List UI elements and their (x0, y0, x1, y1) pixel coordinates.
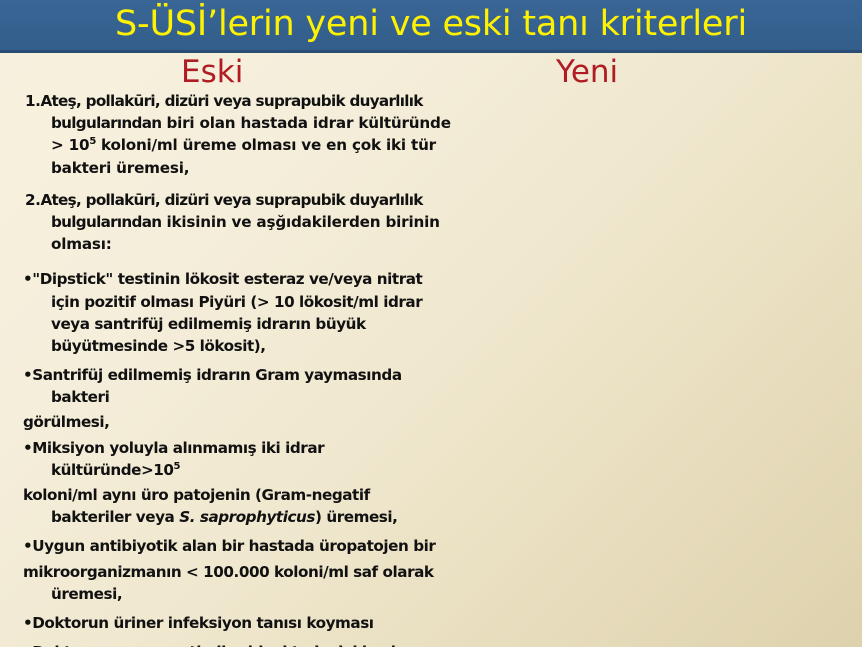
column-body-eski: 1.Ateş, pollakūri, dizüri veya suprapubi… (0, 90, 452, 647)
list-item-text: Uygun antibiyotik alan bir hastada üropa… (32, 537, 435, 555)
slide-canvas: S-ÜSİ’lerin yeni ve eski tanı kriterleri… (0, 0, 862, 647)
continuation-text-tail: ) üremesi, (315, 508, 397, 526)
list-item-text: Doktorun uygun antimikrobiyal tedaviyi b… (32, 643, 444, 647)
list-item-text: Miksiyon yoluyla alınmamış iki idrar kül… (32, 439, 324, 479)
list-item: •Miksiyon yoluyla alınmamış iki idrar kü… (0, 437, 452, 481)
continuation-line: koloni/ml aynı üro patojenin (Gram-negat… (0, 484, 452, 528)
column-heading-yeni: Yeni (556, 57, 618, 88)
list-item: 2.Ateş, pollakūri, dizüri veya suprapubi… (0, 189, 452, 256)
list-item-marker: 1. (25, 92, 40, 110)
list-item-marker: 2. (25, 191, 40, 209)
continuation-text: görülmesi, (23, 413, 109, 431)
continuation-line: görülmesi, (0, 411, 452, 433)
bullet-icon: • (23, 270, 32, 288)
list-item: 1.Ateş, pollakūri, dizüri veya suprapubi… (0, 90, 452, 179)
list-item-text: Santrifüj edilmemiş idrarın Gram yayması… (32, 366, 401, 406)
bullet-icon: • (23, 439, 32, 457)
continuation-line: mikroorganizmanın < 100.000 koloni/ml sa… (0, 561, 452, 605)
slide-title: S-ÜSİ’lerin yeni ve eski tanı kriterleri (115, 7, 747, 42)
superscript-exponent: 5 (174, 461, 181, 472)
column-heading-eski: Eski (181, 57, 243, 88)
column-body-yeni (452, 90, 862, 647)
list-item: •Doktorun üriner infeksiyon tanısı koyma… (0, 612, 452, 634)
continuation-text: mikroorganizmanın < 100.000 koloni/ml sa… (23, 563, 434, 603)
list-item-text-cont: koloni/ml üreme olması ve en çok iki tür… (51, 136, 436, 176)
list-item: •Santrifüj edilmemiş idrarın Gram yaymas… (0, 364, 452, 408)
bullet-icon: • (23, 366, 32, 384)
list-item: •"Dipstick" testinin lökosit esteraz ve/… (0, 268, 452, 357)
bullet-icon: • (23, 614, 32, 632)
list-item: •Doktorun uygun antimikrobiyal tedaviyi … (0, 641, 452, 647)
list-item: •Uygun antibiyotik alan bir hastada ürop… (0, 535, 452, 557)
slide-title-bar: S-ÜSİ’lerin yeni ve eski tanı kriterleri (0, 0, 862, 53)
bullet-icon: • (23, 643, 32, 647)
species-name-italic: S. saprophyticus (179, 508, 315, 526)
list-item-text: Doktorun üriner infeksiyon tanısı koymas… (32, 614, 373, 632)
bullet-icon: • (23, 537, 32, 555)
list-item-text: "Dipstick" testinin lökosit esteraz ve/v… (32, 270, 422, 355)
